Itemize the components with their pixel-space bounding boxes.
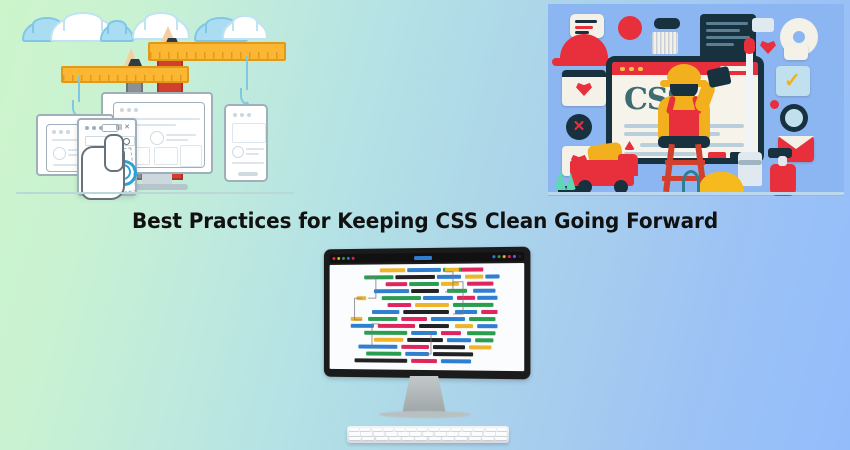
crane-cable [78,76,80,102]
monitor-stand [402,376,446,414]
wireframe-box [232,123,266,143]
code-panel-line [706,43,734,46]
window-controls-icon [120,108,138,112]
ruler-crane-arm [61,66,189,83]
truck-cab [618,154,638,176]
red-dot-icon [618,16,642,40]
tablet-device [224,104,268,182]
crane-cable [246,56,248,90]
wireframe-line [232,162,264,164]
code-tree-screen [330,263,525,371]
wireframe-line [238,172,258,176]
checkmark-badge: ✓ [776,66,810,96]
wireframe-line [166,139,188,141]
monitor-base [379,411,471,418]
marker-icon [654,18,680,29]
chat-line [575,20,597,23]
monitor-bezel [324,247,531,380]
code-panel-line [706,22,748,25]
heart-icon [760,40,776,54]
magnifier-lens [785,109,803,127]
web-design-crane-illustration: ▤ ✕ [8,4,300,196]
poster-canvas: ▤ ✕ [0,0,850,450]
x-glyph: ✕ [566,114,592,140]
pill-icon [752,18,774,32]
monitor-title-bar [330,252,525,263]
spray-neck [778,156,787,166]
wireframe-circle [150,131,164,145]
page-title: Best Practices for Keeping CSS Clean Goi… [30,209,821,234]
hand-finger [104,134,124,172]
red-dot-icon [770,100,779,109]
comb-brush-icon [652,32,678,54]
broom-head [738,152,762,186]
code-panel-line [706,36,750,39]
cloud-icon [222,20,268,40]
chat-line [575,26,593,29]
cloud-icon [100,24,134,42]
window-close-icon: ▤ ✕ [116,124,130,131]
card-bar [562,70,606,77]
content-line [708,152,726,160]
wireframe-circle [53,147,66,160]
wireframe-line [166,134,196,136]
browser-card [562,70,606,106]
ruler-crane-arm [148,42,286,61]
broom-top [744,38,755,54]
wireframe-box [180,145,202,167]
gear-hole [793,31,805,43]
ladder-step [665,160,705,165]
note-icon [784,44,808,60]
code-panel-line [706,29,740,32]
window-controls-icon [52,130,70,134]
heart-icon [576,82,592,96]
search-icon [123,138,130,145]
imac-code-monitor [305,248,545,450]
broom-band [738,160,762,165]
worker-seat [658,136,710,148]
css-cleanup-worker-illustration: ✕ CSS [548,4,844,196]
tree-connector-lines [330,263,525,371]
checkmark-icon: ✓ [784,71,801,91]
keyboard[interactable] [347,426,509,443]
ground-line [16,192,294,194]
window-controls-icon [233,113,251,117]
wireframe-line [246,153,259,155]
broom-handle [746,46,753,156]
warning-icon [624,141,635,150]
wireframe-circle [232,146,244,158]
wireframe-line [246,148,264,150]
pencil-tip-icon [124,48,138,66]
ground-line [548,192,844,195]
wireframe-box [154,147,178,165]
